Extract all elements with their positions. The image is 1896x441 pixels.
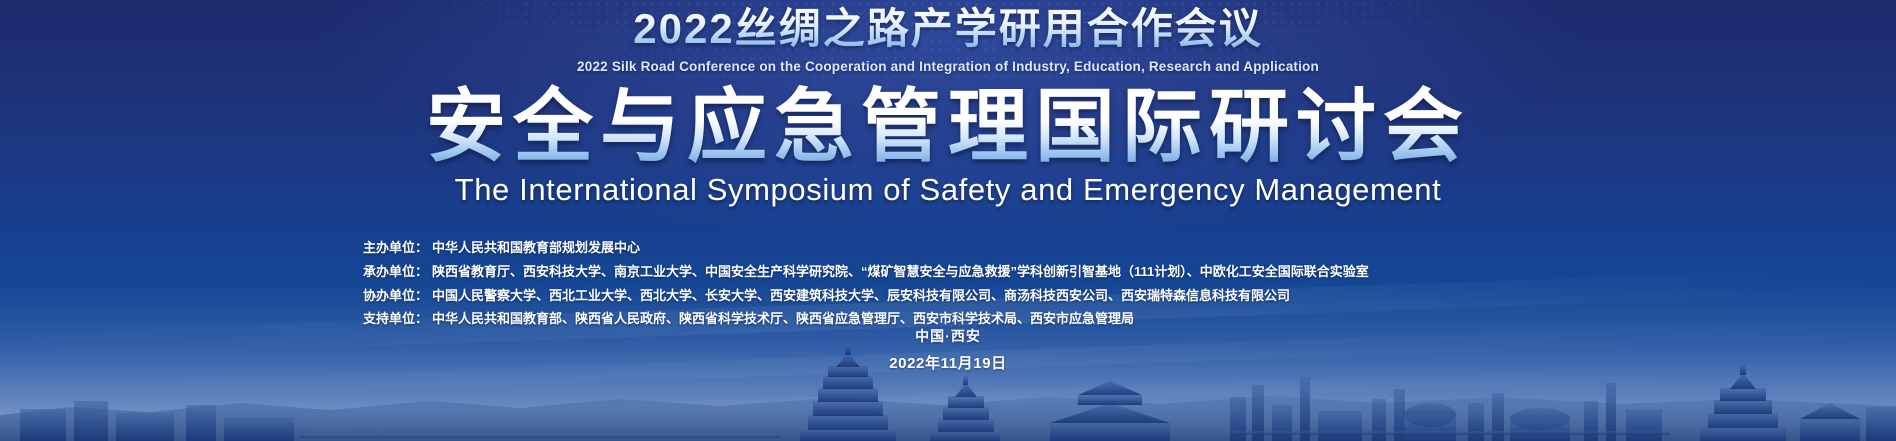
conference-series-title-en: 2022 Silk Road Conference on the Coopera… — [0, 59, 1896, 74]
conference-series-title-cn: 2022丝绸之路产学研用合作会议 — [0, 4, 1896, 54]
conference-banner: 2022丝绸之路产学研用合作会议 2022 Silk Road Conferen… — [0, 0, 1896, 441]
organizer-row: 主办单位 ： 中华人民共和国教育部规划发展中心 — [363, 240, 1543, 256]
header-block: 2022丝绸之路产学研用合作会议 2022 Silk Road Conferen… — [0, 4, 1896, 74]
organizer-separator: ： — [415, 240, 428, 256]
main-title-en: The International Symposium of Safety an… — [0, 172, 1896, 208]
organizer-row: 承办单位 ： 陕西省教育厅、西安科技大学、南京工业大学、中国安全生产科学研究院、… — [363, 264, 1543, 280]
main-title-cn: 安全与应急管理国际研讨会 — [0, 82, 1896, 172]
organizer-separator: ： — [415, 264, 428, 280]
organizer-value: 中国人民警察大学、西北工业大学、西北大学、长安大学、西安建筑科技大学、辰安科技有… — [428, 288, 1290, 304]
event-location: 中国·西安 — [0, 326, 1896, 346]
organizer-label: 协办单位 — [363, 288, 415, 304]
organizer-label: 承办单位 — [363, 264, 415, 280]
event-date: 2022年11月19日 — [0, 352, 1896, 373]
organizer-row: 协办单位 ： 中国人民警察大学、西北工业大学、西北大学、长安大学、西安建筑科技大… — [363, 288, 1543, 304]
organizer-separator: ： — [415, 288, 428, 304]
organizer-value: 陕西省教育厅、西安科技大学、南京工业大学、中国安全生产科学研究院、“煤矿智慧安全… — [428, 264, 1369, 280]
event-footer: 中国·西安 2022年11月19日 — [0, 326, 1896, 373]
organizer-value: 中华人民共和国教育部规划发展中心 — [428, 240, 640, 256]
organizers-block: 主办单位 ： 中华人民共和国教育部规划发展中心 承办单位 ： 陕西省教育厅、西安… — [363, 240, 1543, 335]
organizer-label: 主办单位 — [363, 240, 415, 256]
